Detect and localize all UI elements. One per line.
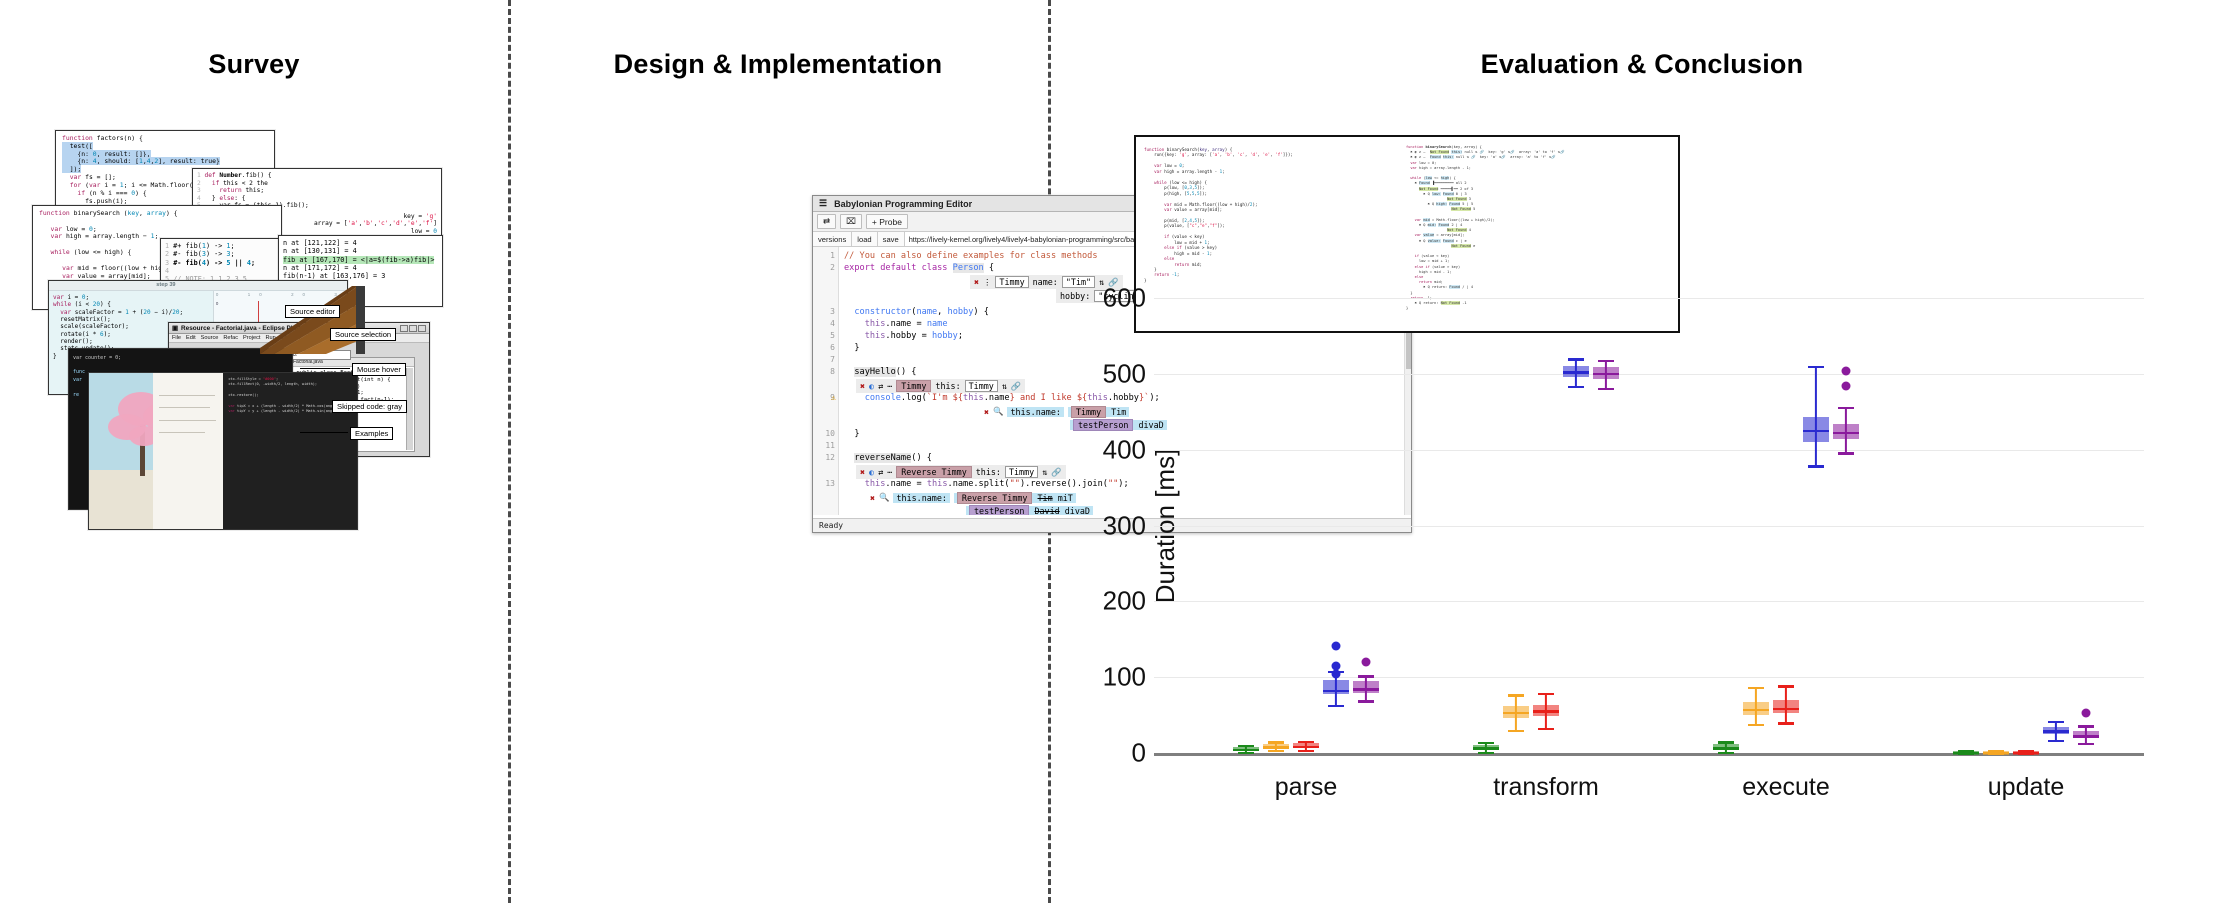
- probe-close-icon[interactable]: ✖: [860, 467, 865, 477]
- probe-example-name[interactable]: Timmy: [995, 276, 1028, 288]
- gutter-11: 11: [813, 441, 839, 450]
- whisker-cap-max: [1568, 358, 1585, 360]
- box-transform-series-5: [1593, 298, 1619, 753]
- section-title-evaluation: Evaluation & Conclusion: [1048, 49, 2236, 80]
- median-line: [2073, 735, 2099, 737]
- dark-editor-label: var counter = 0;: [73, 355, 121, 361]
- x-tick-execute: execute: [1742, 773, 1830, 802]
- eclipse-app-icon: ▣: [172, 324, 178, 332]
- more-icon[interactable]: ⋯: [887, 467, 892, 477]
- editor-window-title: Babylonian Programming Editor: [834, 199, 972, 209]
- book-page: [153, 373, 223, 529]
- probe-close-icon[interactable]: ✖: [860, 381, 865, 391]
- gutter-7: 7: [813, 355, 839, 364]
- probe-this-value[interactable]: Timmy: [1005, 466, 1038, 478]
- whisker: [1815, 366, 1817, 466]
- swap-icon[interactable]: ⇄: [878, 467, 883, 477]
- probe-reverse-name[interactable]: ✖ ◐ ⇄ ⋯ Reverse Timmy this: Timmy ⇅🔗: [856, 465, 1066, 479]
- boxplot-layer: [1154, 298, 2144, 753]
- editor-gutter: 1 2 3 4 5 6 7 8 9 10 11 12 13 14 15 16 1…: [813, 247, 839, 515]
- outlier-point: [1842, 382, 1851, 391]
- timeline-value-0: 0: [216, 301, 218, 306]
- whisker-cap-min: [1538, 728, 1555, 730]
- box-parse-series-3: [1293, 298, 1319, 753]
- outlier-point: [1362, 658, 1371, 667]
- median-line: [1473, 747, 1499, 749]
- box-transform-series-4: [1563, 298, 1589, 753]
- whisker-cap-max: [1808, 366, 1825, 368]
- y-tick-600: 600: [1103, 283, 1146, 314]
- median-line: [1983, 752, 2009, 754]
- frame-icon[interactable]: ⌧: [840, 214, 862, 229]
- evaluation-figure: function binarySearch(key, array) { run(…: [1070, 130, 2230, 810]
- median-line: [1293, 746, 1319, 748]
- trace-list-code: n at [121,122] = 4 n at [130,131] = 4 fi…: [279, 236, 442, 283]
- gutter-10: 10: [813, 429, 839, 438]
- probe-example-name[interactable]: Reverse Timmy: [896, 466, 972, 478]
- outlier-point: [1842, 367, 1851, 376]
- menu-project[interactable]: Project: [243, 335, 260, 341]
- callout-skipped-code: Skipped code: gray: [332, 400, 407, 413]
- section-divider-1: [508, 0, 511, 903]
- whisker-cap-min: [1568, 386, 1585, 388]
- eclipse-window-buttons[interactable]: [400, 325, 426, 332]
- code-line-10: }: [844, 429, 860, 439]
- menu-edit[interactable]: Edit: [186, 335, 196, 341]
- median-line: [1323, 690, 1349, 692]
- y-tick-100: 100: [1103, 662, 1146, 693]
- box-update-series-2: [1983, 298, 2009, 753]
- whisker-cap-min: [1238, 752, 1255, 754]
- code-line-2: export default class Person {: [844, 263, 994, 273]
- probe-result-example-2[interactable]: testPerson: [969, 505, 1029, 515]
- probe-example-name[interactable]: Timmy: [896, 380, 931, 392]
- gutter-8: 8: [813, 367, 839, 376]
- whisker-cap-max: [1838, 407, 1855, 409]
- hamburger-icon[interactable]: ☰: [819, 198, 827, 209]
- probe-field-label-name: name:: [1033, 277, 1058, 287]
- timeline-step-label: step 39: [156, 282, 175, 288]
- code-line-1: // You can also define examples for clas…: [844, 251, 1098, 261]
- whisker-cap-min: [2078, 743, 2095, 745]
- box-execute-series-3: [1773, 298, 1799, 753]
- code-line-3: constructor(name, hobby) {: [844, 307, 989, 317]
- callout-mouse-hover: Mouse hover: [352, 363, 406, 376]
- save-button[interactable]: save: [878, 232, 905, 246]
- whisker-cap-min: [1478, 752, 1495, 754]
- whisker-cap-min: [1298, 750, 1315, 752]
- x-tick-parse: parse: [1275, 773, 1338, 802]
- y-tick-500: 500: [1103, 358, 1146, 389]
- book-illustration: [89, 373, 223, 529]
- box-update-series-5: [2073, 298, 2099, 753]
- section-title-design: Design & Implementation: [508, 49, 1048, 80]
- outlier-point: [2082, 709, 2091, 718]
- box-update-series-4: [2043, 298, 2069, 753]
- toggle-icon[interactable]: ◐: [869, 381, 874, 391]
- median-line: [1503, 712, 1529, 714]
- code-line-4: this.name = name: [844, 319, 948, 329]
- eclipse-scrollbar[interactable]: [406, 368, 413, 450]
- probe-result-old-2: David: [1034, 506, 1059, 515]
- inspect-icon[interactable]: 🔍: [879, 492, 889, 503]
- probe-reverse-result[interactable]: ✖ 🔍 this.name: Reverse Timmy Tim miT: [866, 491, 1080, 504]
- box-parse-series-4: [1323, 298, 1349, 753]
- whisker-cap-max: [1358, 675, 1375, 677]
- toggle-icon[interactable]: ◐: [869, 467, 874, 477]
- gutter-6: 6: [813, 343, 839, 352]
- probe-this-label: this:: [976, 467, 1001, 477]
- warning-icon-line-9[interactable]: ⚠: [831, 393, 836, 402]
- probe-result-label: this.name:: [893, 493, 949, 503]
- whisker-cap-min: [1508, 730, 1525, 732]
- y-tick-300: 300: [1103, 510, 1146, 541]
- callout-source-editor: Source editor: [285, 305, 340, 318]
- code-line-8: sayHello() {: [844, 367, 916, 377]
- whisker-cap-max: [1538, 693, 1555, 695]
- probe-this-label: this:: [935, 381, 960, 391]
- menu-source[interactable]: Source: [201, 335, 219, 341]
- whisker-cap-max: [1508, 694, 1525, 696]
- dark-editor-code: funcvarre: [73, 369, 85, 399]
- y-tick-200: 200: [1103, 586, 1146, 617]
- probe-close-icon[interactable]: ✖: [870, 493, 875, 503]
- callout-examples: Examples: [350, 427, 393, 440]
- link-icon[interactable]: 🔗: [1011, 381, 1021, 392]
- survey-ramp-illustration: [260, 286, 365, 354]
- box-update-series-1: [1953, 298, 1979, 753]
- swap-icon[interactable]: ⇄: [817, 214, 836, 229]
- section-title-survey: Survey: [0, 49, 508, 80]
- stepper-icon[interactable]: ⇅: [1042, 467, 1047, 477]
- whisker-cap-max: [1748, 687, 1765, 689]
- median-line: [2013, 752, 2039, 754]
- whisker-cap-min: [1718, 752, 1735, 754]
- x-tick-update: update: [1988, 773, 2064, 802]
- box-parse-series-5: [1353, 298, 1379, 753]
- gutter-4: 4: [813, 319, 839, 328]
- whisker-cap-max: [1778, 685, 1795, 687]
- survey-window-book-demo[interactable]: ctx.fillStyle = "#000"; ctx.fillRect(0, …: [88, 372, 358, 530]
- median-line: [1773, 708, 1799, 710]
- median-line: [1593, 373, 1619, 375]
- swap-icon[interactable]: ⇄: [878, 381, 883, 391]
- probe-this-value[interactable]: Timmy: [965, 380, 998, 392]
- median-line: [1833, 432, 1859, 434]
- probe-say-hello[interactable]: ✖ ◐ ⇄ ⋯ Timmy this: Timmy ⇅🔗: [856, 379, 1025, 393]
- whisker-cap-min: [1748, 724, 1765, 726]
- y-tick-0: 0: [1132, 738, 1146, 769]
- probe-close-icon[interactable]: ✖: [984, 407, 989, 417]
- whisker-cap-min: [2048, 740, 2065, 742]
- gutter-3: 3: [813, 307, 839, 316]
- whisker-cap-min: [1598, 388, 1615, 390]
- box-execute-series-5: [1833, 298, 1859, 753]
- box: [1353, 681, 1379, 693]
- outlier-point: [1332, 641, 1341, 650]
- gutter-13: 13: [813, 479, 839, 488]
- median-line: [1263, 746, 1289, 748]
- stepper-icon[interactable]: ⇅: [1002, 381, 1007, 391]
- slide-canvas: Survey Design & Implementation Evaluatio…: [0, 0, 2236, 903]
- whisker-cap-min: [1778, 722, 1795, 724]
- whisker-cap-min: [1358, 700, 1375, 702]
- median-line: [1353, 688, 1379, 690]
- more-icon[interactable]: ⋯: [887, 381, 892, 391]
- median-line: [1803, 430, 1829, 432]
- inset-right-code: function binarySearch(key, array) { ✖ ◐ …: [1406, 145, 1674, 312]
- duration-boxplot: Duration [ms] 0 100 200 300 400 500 600 …: [1154, 298, 2144, 753]
- gutter-2: 2: [813, 263, 839, 272]
- probe-close-icon[interactable]: ✖: [974, 277, 979, 287]
- whisker-cap-max: [1598, 360, 1615, 362]
- code-line-12: reverseName() {: [844, 453, 932, 463]
- probe-result-example-1[interactable]: Reverse Timmy: [957, 492, 1033, 504]
- median-line: [1533, 710, 1559, 712]
- whisker-cap-min: [1268, 750, 1285, 752]
- box-transform-series-2: [1503, 298, 1529, 753]
- box-transform-series-3: [1533, 298, 1559, 753]
- versions-button[interactable]: versions: [813, 232, 852, 246]
- whisker-cap-max: [2048, 721, 2065, 723]
- whisker-cap-min: [1808, 465, 1825, 467]
- menu-refactor[interactable]: Refac: [223, 335, 238, 341]
- y-tick-400: 400: [1103, 434, 1146, 465]
- box-update-series-3: [2013, 298, 2039, 753]
- median-line: [1233, 749, 1259, 751]
- inset-left-code: function binarySearch(key, array) { run(…: [1144, 147, 1394, 283]
- code-line-6: }: [844, 343, 860, 353]
- box-parse-series-2: [1263, 298, 1289, 753]
- add-probe-button[interactable]: + Probe: [866, 214, 908, 229]
- box-transform-series-1: [1473, 298, 1499, 753]
- load-button[interactable]: load: [852, 232, 877, 246]
- inspect-icon[interactable]: 🔍: [993, 406, 1003, 417]
- whisker-cap-max: [2078, 725, 2095, 727]
- survey-collage: function factors(n) { test([ {n: 0, resu…: [0, 110, 508, 560]
- box-execute-series-1: [1713, 298, 1739, 753]
- gutter-12: 12: [813, 453, 839, 462]
- box-parse-series-1: [1233, 298, 1259, 753]
- box-execute-series-4: [1803, 298, 1829, 753]
- median-line: [1743, 709, 1769, 711]
- gutter-5: 5: [813, 331, 839, 340]
- x-tick-transform: transform: [1493, 773, 1599, 802]
- median-line: [1563, 371, 1589, 373]
- box-execute-series-2: [1743, 298, 1769, 753]
- median-line: [1953, 752, 1979, 754]
- outlier-point: [1332, 669, 1341, 678]
- median-line: [2043, 730, 2069, 732]
- whisker-cap-min: [1838, 452, 1855, 454]
- probe-result-label: this.name:: [1007, 407, 1063, 417]
- callout-source-selection: Source selection: [330, 328, 396, 341]
- code-line-5: this.hobby = hobby;: [844, 331, 963, 341]
- probe-result-old-1: Tim: [1038, 493, 1053, 503]
- gutter-1: 1: [813, 251, 839, 260]
- median-line: [1713, 747, 1739, 749]
- link-icon[interactable]: 🔗: [1051, 467, 1061, 478]
- menu-file[interactable]: File: [172, 335, 181, 341]
- probe-menu-icon[interactable]: ⋮: [983, 277, 991, 287]
- whisker-cap-min: [1328, 705, 1345, 707]
